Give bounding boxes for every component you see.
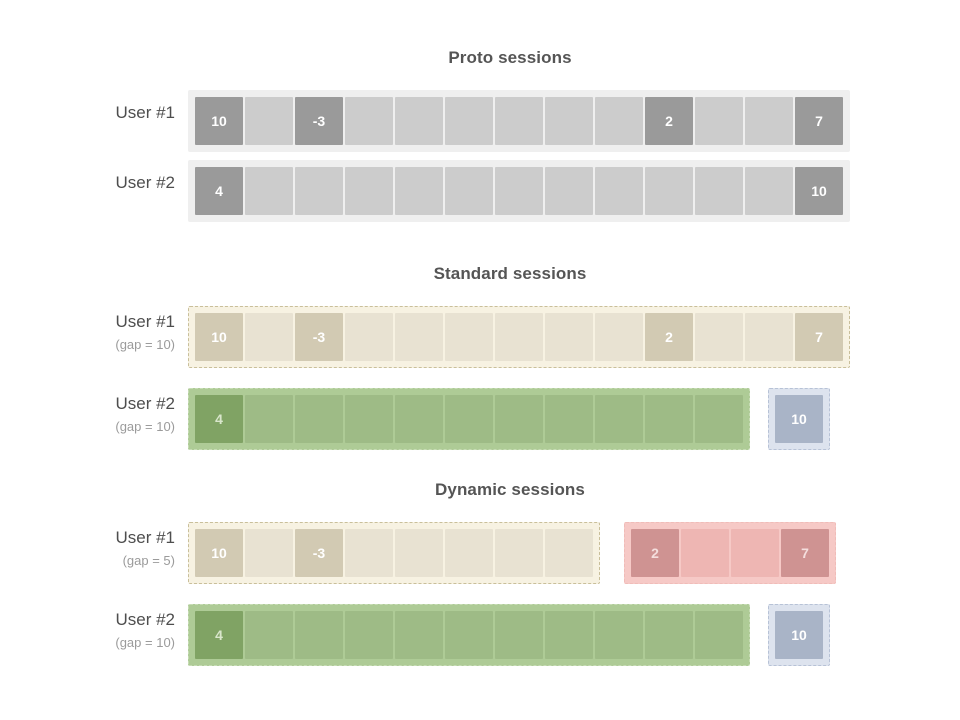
empty-cell[interactable] — [395, 529, 443, 577]
empty-cell[interactable] — [545, 167, 593, 215]
diagram-canvas: Proto sessionsUser #110-327User #2410Sta… — [0, 0, 960, 720]
empty-cell[interactable] — [395, 97, 443, 145]
section-title: Proto sessions — [190, 48, 830, 68]
empty-cell[interactable] — [245, 529, 293, 577]
empty-cell[interactable] — [545, 313, 593, 361]
section-title: Dynamic sessions — [190, 480, 830, 500]
row-label: User #2(gap = 10) — [25, 393, 175, 437]
row-list: User #110-327User #2410 — [0, 86, 960, 226]
user-row: User #110-327 — [0, 86, 960, 156]
user-row: User #1(gap = 5)10-327 — [0, 518, 960, 600]
event-cell[interactable]: -3 — [295, 97, 343, 145]
empty-cell[interactable] — [245, 395, 293, 443]
empty-cell[interactable] — [545, 395, 593, 443]
row-list: User #1(gap = 5)10-327User #2(gap = 10)4… — [0, 518, 960, 682]
empty-cell[interactable] — [445, 97, 493, 145]
row-label-gap: (gap = 10) — [25, 416, 175, 437]
empty-cell[interactable] — [745, 313, 793, 361]
event-cell[interactable]: 4 — [195, 611, 243, 659]
event-cell[interactable]: 2 — [631, 529, 679, 577]
empty-cell[interactable] — [695, 395, 743, 443]
row-label: User #2 — [25, 172, 175, 193]
empty-cell[interactable] — [731, 529, 779, 577]
empty-cell[interactable] — [245, 167, 293, 215]
event-cell[interactable]: 10 — [195, 529, 243, 577]
empty-cell[interactable] — [495, 395, 543, 443]
session-group[interactable]: 27 — [624, 522, 836, 584]
event-cell[interactable]: 7 — [795, 97, 843, 145]
empty-cell[interactable] — [695, 167, 743, 215]
empty-cell[interactable] — [645, 395, 693, 443]
event-cell[interactable]: 10 — [775, 611, 823, 659]
empty-cell[interactable] — [495, 529, 543, 577]
session-group[interactable]: 410 — [188, 160, 850, 222]
row-label-user: User #2 — [115, 173, 175, 192]
empty-cell[interactable] — [345, 97, 393, 145]
empty-cell[interactable] — [545, 529, 593, 577]
session-group[interactable]: 10-3 — [188, 522, 600, 584]
row-label-user: User #1 — [115, 528, 175, 547]
row-label: User #1(gap = 10) — [25, 311, 175, 355]
empty-cell[interactable] — [445, 167, 493, 215]
empty-cell[interactable] — [495, 97, 543, 145]
row-label-gap: (gap = 10) — [25, 632, 175, 653]
event-cell[interactable]: 10 — [795, 167, 843, 215]
event-cell[interactable]: 10 — [195, 313, 243, 361]
empty-cell[interactable] — [745, 97, 793, 145]
empty-cell[interactable] — [245, 611, 293, 659]
empty-cell[interactable] — [681, 529, 729, 577]
empty-cell[interactable] — [595, 167, 643, 215]
empty-cell[interactable] — [445, 313, 493, 361]
event-cell[interactable]: 7 — [795, 313, 843, 361]
session-group[interactable]: 10-327 — [188, 306, 850, 368]
empty-cell[interactable] — [445, 611, 493, 659]
session-group[interactable]: 10 — [768, 604, 830, 666]
section-title: Standard sessions — [190, 264, 830, 284]
empty-cell[interactable] — [395, 395, 443, 443]
empty-cell[interactable] — [395, 313, 443, 361]
row-label-user: User #2 — [115, 394, 175, 413]
empty-cell[interactable] — [595, 395, 643, 443]
user-row: User #2(gap = 10)410 — [0, 600, 960, 682]
event-cell[interactable]: 10 — [195, 97, 243, 145]
empty-cell[interactable] — [495, 167, 543, 215]
empty-cell[interactable] — [245, 97, 293, 145]
row-label-gap: (gap = 5) — [25, 550, 175, 571]
row-label-user: User #1 — [115, 312, 175, 331]
event-cell[interactable]: 4 — [195, 167, 243, 215]
empty-cell[interactable] — [445, 395, 493, 443]
empty-cell[interactable] — [295, 395, 343, 443]
empty-cell[interactable] — [745, 167, 793, 215]
row-label-user: User #1 — [115, 103, 175, 122]
empty-cell[interactable] — [645, 167, 693, 215]
empty-cell[interactable] — [295, 611, 343, 659]
empty-cell[interactable] — [595, 97, 643, 145]
empty-cell[interactable] — [645, 611, 693, 659]
empty-cell[interactable] — [595, 313, 643, 361]
empty-cell[interactable] — [445, 529, 493, 577]
event-cell[interactable]: -3 — [295, 313, 343, 361]
row-label: User #1 — [25, 102, 175, 123]
event-cell[interactable]: 10 — [775, 395, 823, 443]
event-cell[interactable]: 7 — [781, 529, 829, 577]
empty-cell[interactable] — [345, 167, 393, 215]
empty-cell[interactable] — [395, 611, 443, 659]
row-list: User #1(gap = 10)10-327User #2(gap = 10)… — [0, 302, 960, 466]
event-cell[interactable]: 2 — [645, 313, 693, 361]
empty-cell[interactable] — [395, 167, 443, 215]
event-cell[interactable]: 2 — [645, 97, 693, 145]
empty-cell[interactable] — [595, 611, 643, 659]
event-cell[interactable]: -3 — [295, 529, 343, 577]
user-row: User #2(gap = 10)410 — [0, 384, 960, 466]
empty-cell[interactable] — [695, 313, 743, 361]
empty-cell[interactable] — [545, 97, 593, 145]
empty-cell[interactable] — [345, 313, 393, 361]
empty-cell[interactable] — [495, 611, 543, 659]
row-label-gap: (gap = 10) — [25, 334, 175, 355]
user-row: User #1(gap = 10)10-327 — [0, 302, 960, 384]
session-group[interactable]: 4 — [188, 604, 750, 666]
row-label-user: User #2 — [115, 610, 175, 629]
empty-cell[interactable] — [345, 611, 393, 659]
empty-cell[interactable] — [695, 97, 743, 145]
empty-cell[interactable] — [345, 395, 393, 443]
empty-cell[interactable] — [245, 313, 293, 361]
empty-cell[interactable] — [495, 313, 543, 361]
session-group[interactable]: 10-327 — [188, 90, 850, 152]
row-label: User #2(gap = 10) — [25, 609, 175, 653]
session-group[interactable]: 4 — [188, 388, 750, 450]
empty-cell[interactable] — [545, 611, 593, 659]
session-group[interactable]: 10 — [768, 388, 830, 450]
empty-cell[interactable] — [695, 611, 743, 659]
event-cell[interactable]: 4 — [195, 395, 243, 443]
empty-cell[interactable] — [295, 167, 343, 215]
row-label: User #1(gap = 5) — [25, 527, 175, 571]
user-row: User #2410 — [0, 156, 960, 226]
empty-cell[interactable] — [345, 529, 393, 577]
